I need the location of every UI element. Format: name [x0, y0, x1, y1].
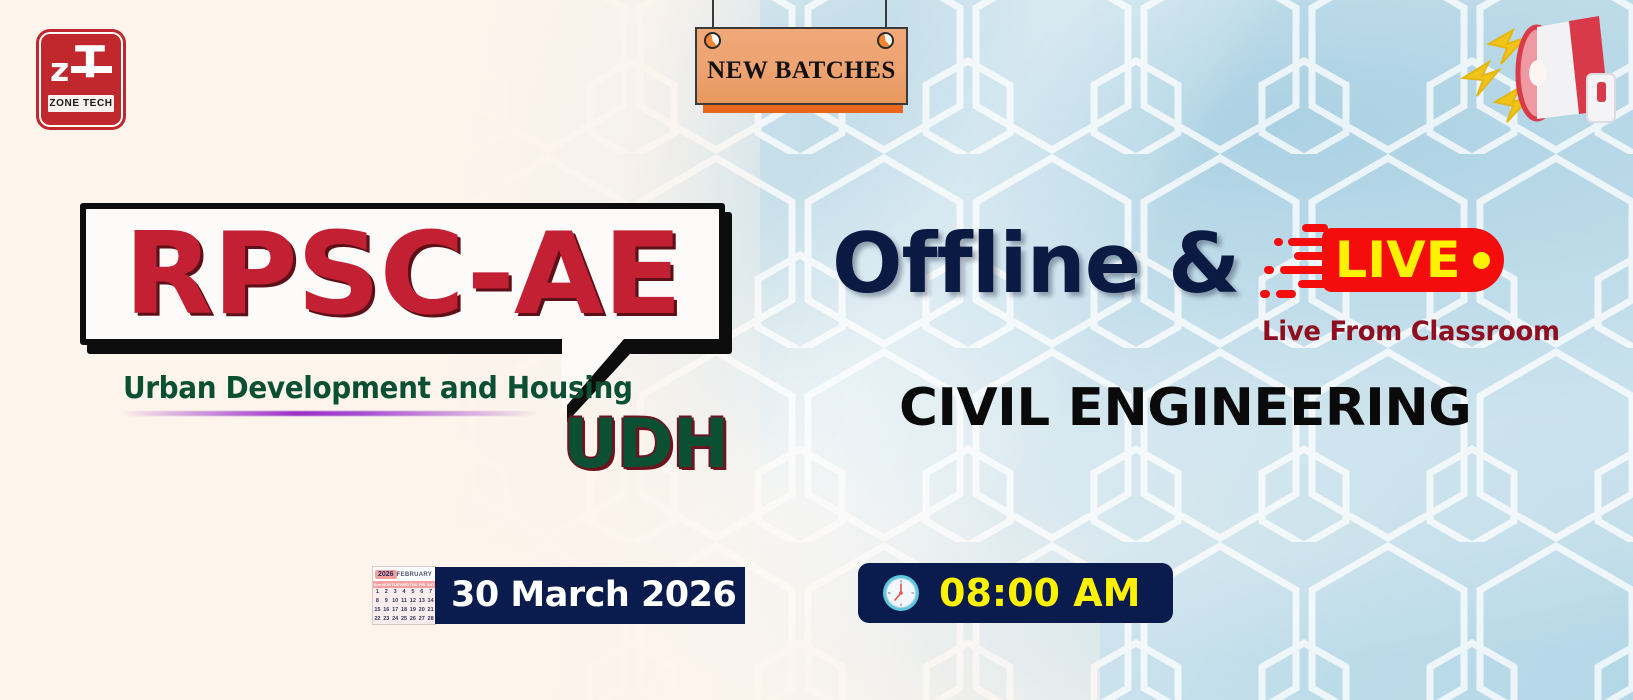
megaphone-icon	[1437, 14, 1627, 129]
calendar-day: 11	[400, 597, 409, 606]
calendar-day: 12	[408, 597, 417, 606]
zone-tech-logo[interactable]: z T ZONE TECH	[39, 32, 123, 127]
gradient-divider	[120, 411, 540, 416]
calendar-day: 23	[382, 615, 391, 624]
mode-headline: Offline &	[832, 222, 1239, 305]
calendar-weekday-row: Sun MON TUE WED THU FRI SAT	[373, 581, 435, 588]
sign-eyelet-right	[877, 32, 894, 49]
time-text: 08:00 AM	[939, 574, 1140, 612]
speed-streaks-icon	[1258, 222, 1330, 300]
calendar-day: 21	[426, 606, 435, 615]
calendar-day: 10	[391, 597, 400, 606]
calendar-grid: 1 2 3 4 5 6 7 8 9 10 11 12 13 14 15 16 1…	[373, 588, 435, 624]
calendar-day: 8	[373, 597, 382, 606]
calendar-day: 20	[417, 606, 426, 615]
calendar-day: 7	[426, 588, 435, 597]
calendar-week-row: 22 23 24 25 26 27 28	[373, 615, 435, 624]
calendar-weekday: Sun	[373, 581, 382, 588]
calendar-day: 26	[408, 615, 417, 624]
logo-letter-z: z	[50, 53, 69, 86]
new-batches-sign: NEW BATCHES	[695, 0, 910, 115]
live-label: LIVE	[1335, 235, 1461, 285]
calendar-day: 16	[382, 606, 391, 615]
calendar-weekday: MON	[382, 581, 391, 588]
calendar-day: 19	[408, 606, 417, 615]
exam-subtitle: Urban Development and Housing	[123, 371, 633, 406]
live-indicator-dot	[1473, 252, 1490, 269]
calendar-day: 28	[426, 615, 435, 624]
calendar-day: 14	[426, 597, 435, 606]
sign-bottom-lip	[703, 105, 903, 113]
calendar-day: 13	[417, 597, 426, 606]
stream-name: CIVIL ENGINEERING	[899, 382, 1471, 434]
calendar-icon: 2026 FEBRUARY Sun MON TUE WED THU FRI SA…	[372, 566, 436, 625]
logo-monogram: z T	[50, 39, 112, 89]
calendar-day: 22	[373, 615, 382, 624]
calendar-day: 4	[400, 588, 409, 597]
time-badge: 08:00 AM	[858, 563, 1173, 623]
calendar-day: 17	[391, 606, 400, 615]
exam-title: RPSC-AE	[124, 218, 682, 331]
live-badge: LIVE	[1322, 228, 1504, 292]
classroom-tagline: Live From Classroom	[1262, 318, 1560, 345]
calendar-week-row: 1 2 3 4 5 6 7	[373, 588, 435, 597]
calendar-day: 9	[382, 597, 391, 606]
calendar-day: 1	[373, 588, 382, 597]
date-text: 30 March 2026	[451, 578, 736, 613]
calendar-day: 18	[400, 606, 409, 615]
exam-title-block: RPSC-AE Urban Development and Housing UD…	[80, 203, 740, 493]
calendar-weekday: FRI	[418, 581, 427, 588]
calendar-year: 2026	[375, 570, 397, 579]
calendar-week-row: 8 9 10 11 12 13 14	[373, 597, 435, 606]
calendar-weekday: TUE	[391, 581, 400, 588]
calendar-weekday: SAT	[426, 581, 435, 588]
calendar-weekday: WED	[400, 581, 409, 588]
calendar-day: 2	[382, 588, 391, 597]
sign-label: NEW BATCHES	[707, 57, 896, 85]
logo-wordmark: ZONE TECH	[48, 95, 114, 112]
calendar-day: 5	[408, 588, 417, 597]
calendar-day: 27	[417, 615, 426, 624]
clock-icon	[882, 574, 920, 612]
calendar-day: 15	[373, 606, 382, 615]
exam-abbreviation: UDH	[563, 411, 729, 479]
date-badge: 30 March 2026	[435, 567, 745, 624]
calendar-weekday: THU	[409, 581, 418, 588]
sign-eyelet-left	[704, 32, 721, 49]
calendar-week-row: 15 16 17 18 19 20 21	[373, 606, 435, 615]
calendar-month: FEBRUARY	[397, 572, 433, 578]
calendar-day: 24	[391, 615, 400, 624]
calendar-day: 25	[400, 615, 409, 624]
calendar-day: 3	[391, 588, 400, 597]
logo-letter-t: T	[75, 41, 105, 85]
promo-banner: z T ZONE TECH NEW BATCHES	[0, 0, 1633, 700]
logo-crossbar	[71, 66, 112, 73]
calendar-day: 6	[417, 588, 426, 597]
calendar-header: 2026 FEBRUARY	[373, 567, 435, 581]
speech-bubble: RPSC-AE	[80, 203, 725, 345]
